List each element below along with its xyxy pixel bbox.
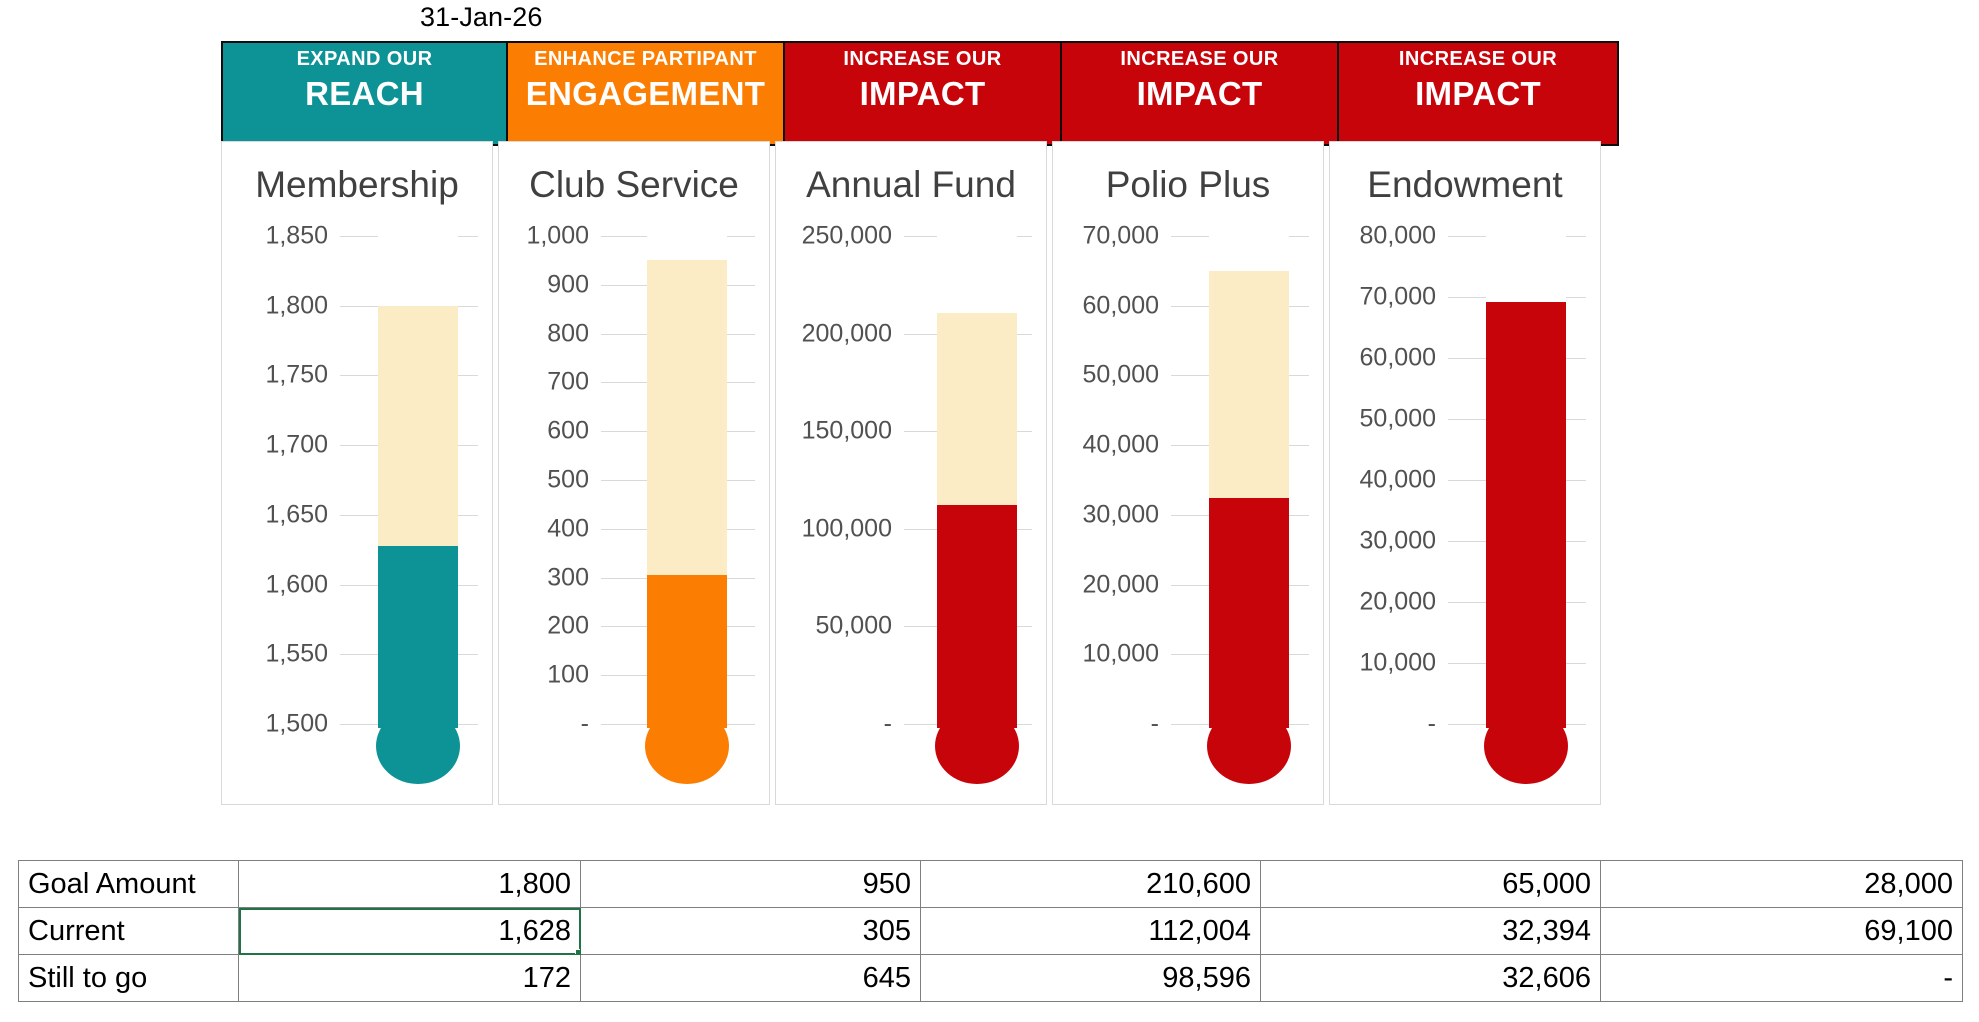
gridline-right [1289, 724, 1309, 725]
gridline-left [1448, 236, 1486, 237]
gridline-left [1171, 724, 1209, 725]
axis-tick-label: 1,800 [265, 291, 328, 320]
table-cell[interactable]: 645 [581, 955, 921, 1002]
banner-row: EXPAND OURREACHENHANCE PARTIPANTENGAGEME… [221, 41, 1958, 146]
gridline-right [1566, 663, 1586, 664]
row-label[interactable]: Current [19, 908, 239, 955]
gridline-left [601, 285, 647, 286]
axis-tick-label: 1,750 [265, 361, 328, 390]
chart-panel-2[interactable]: Club Service1,00090080070060050040030020… [498, 141, 770, 805]
plot-area: 1,8501,8001,7501,7001,6501,6001,5501,500 [222, 218, 492, 768]
gridline-left [601, 578, 647, 579]
banner-title: ENGAGEMENT [526, 75, 766, 113]
thermometer-bulb [935, 708, 1019, 784]
axis-tick-label: 700 [547, 368, 589, 397]
gridline-left [340, 585, 378, 586]
banner-3: INCREASE OURIMPACT [783, 41, 1060, 146]
table-cell[interactable]: 950 [581, 861, 921, 908]
gridline-right [727, 382, 755, 383]
gridline-left [1448, 541, 1486, 542]
gridline-right [1566, 541, 1586, 542]
gridline-right [1289, 515, 1309, 516]
gridline-left [601, 529, 647, 530]
axis-tick-label: - [581, 710, 589, 739]
gridline-right [458, 515, 478, 516]
axis-tick-label: 1,600 [265, 570, 328, 599]
banner-title: REACH [305, 75, 424, 113]
gridline-left [340, 445, 378, 446]
chart-panel-row: Membership1,8501,8001,7501,7001,6501,600… [221, 141, 1958, 844]
axis-tick-label: 1,500 [265, 710, 328, 739]
gridline-right [727, 334, 755, 335]
axis-tick-label: 1,700 [265, 431, 328, 460]
axis-tick-label: 10,000 [1083, 640, 1159, 669]
table-cell[interactable]: 32,606 [1261, 955, 1601, 1002]
gridline-left [340, 654, 378, 655]
summary-table-body: Goal Amount1,800950210,60065,00028,000Cu… [19, 861, 1963, 1002]
axis-tick-label: 60,000 [1360, 344, 1436, 373]
gridline-left [1448, 480, 1486, 481]
report-date: 31-Jan-26 [420, 2, 542, 33]
gridline-left [1171, 306, 1209, 307]
axis-tick-label: 70,000 [1083, 222, 1159, 251]
banner-5: INCREASE OURIMPACT [1337, 41, 1619, 146]
gridline-right [1017, 724, 1032, 725]
banner-4: INCREASE OURIMPACT [1060, 41, 1337, 146]
axis-tick-label: 1,000 [526, 222, 589, 251]
summary-table: Goal Amount1,800950210,60065,00028,000Cu… [18, 860, 1963, 1002]
gridline-right [727, 626, 755, 627]
gridline-right [1017, 236, 1032, 237]
thermometer-fill [1209, 498, 1289, 728]
axis-tick-label: 40,000 [1360, 466, 1436, 495]
chart-title: Polio Plus [1053, 164, 1323, 206]
row-label[interactable]: Still to go [19, 955, 239, 1002]
gridline-right [1289, 236, 1309, 237]
gridline-left [340, 375, 378, 376]
gridline-left [1171, 654, 1209, 655]
plot-area: 1,000900800700600500400300200100- [499, 218, 769, 768]
plot-area: 250,000200,000150,000100,00050,000- [776, 218, 1046, 768]
banner-title: IMPACT [1137, 75, 1263, 113]
table-row: Goal Amount1,800950210,60065,00028,000 [19, 861, 1963, 908]
gridline-right [1289, 654, 1309, 655]
plot-area: 80,00070,00060,00050,00040,00030,00020,0… [1330, 218, 1600, 768]
chart-title: Annual Fund [776, 164, 1046, 206]
thermometer [1207, 218, 1291, 770]
gridline-right [727, 529, 755, 530]
banner-1: EXPAND OURREACH [221, 41, 506, 146]
table-cell[interactable]: 210,600 [921, 861, 1261, 908]
chart-panel-3[interactable]: Annual Fund250,000200,000150,000100,0005… [775, 141, 1047, 805]
gridline-right [1289, 306, 1309, 307]
axis-tick-label: 1,850 [265, 222, 328, 251]
gridline-right [727, 285, 755, 286]
gridline-left [601, 431, 647, 432]
gridline-left [904, 334, 937, 335]
gridline-right [1566, 602, 1586, 603]
gridline-right [1289, 375, 1309, 376]
axis-tick-label: 200,000 [802, 319, 892, 348]
thermometer-fill [378, 546, 458, 728]
axis-tick-label: 800 [547, 319, 589, 348]
gridline-left [904, 626, 937, 627]
gridline-left [340, 515, 378, 516]
gridline-left [601, 382, 647, 383]
banner-title: IMPACT [1415, 75, 1541, 113]
thermometer-fill [937, 505, 1017, 728]
gridline-left [601, 236, 647, 237]
gridline-right [458, 236, 478, 237]
gridline-right [1017, 334, 1032, 335]
banner-subtitle: EXPAND OUR [297, 49, 433, 70]
table-cell[interactable]: 28,000 [1601, 861, 1963, 908]
axis-tick-label: 30,000 [1360, 527, 1436, 556]
chart-title: Endowment [1330, 164, 1600, 206]
table-cell[interactable]: 32,394 [1261, 908, 1601, 955]
thermometer-bulb [376, 708, 460, 784]
gridline-left [340, 236, 378, 237]
axis-tick-label: - [1428, 710, 1436, 739]
axis-tick-label: 1,550 [265, 640, 328, 669]
plot-area: 70,00060,00050,00040,00030,00020,00010,0… [1053, 218, 1323, 768]
gridline-left [904, 529, 937, 530]
axis-tick-label: 60,000 [1083, 291, 1159, 320]
table-row: Still to go17264598,59632,606- [19, 955, 1963, 1002]
axis-tick-label: 50,000 [1360, 405, 1436, 434]
axis-tick-label: 150,000 [802, 417, 892, 446]
axis-tick-label: 80,000 [1360, 222, 1436, 251]
row-label[interactable]: Goal Amount [19, 861, 239, 908]
chart-panel-5[interactable]: Endowment80,00070,00060,00050,00040,0003… [1329, 141, 1601, 805]
axis-tick-label: 300 [547, 563, 589, 592]
axis-tick-label: - [884, 710, 892, 739]
gridline-left [1171, 515, 1209, 516]
axis-tick-label: 50,000 [1083, 361, 1159, 390]
table-cell[interactable]: 69,100 [1601, 908, 1963, 955]
gridline-right [1017, 529, 1032, 530]
banner-subtitle: INCREASE OUR [843, 49, 1001, 70]
thermometer-bulb [1484, 708, 1568, 784]
banner-subtitle: ENHANCE PARTIPANT [534, 49, 757, 70]
gridline-right [1289, 445, 1309, 446]
table-cell[interactable]: 65,000 [1261, 861, 1601, 908]
gridline-left [1448, 297, 1486, 298]
gridline-left [904, 431, 937, 432]
gridline-right [1289, 585, 1309, 586]
axis-tick-label: 10,000 [1360, 649, 1436, 678]
axis-tick-label: 100 [547, 661, 589, 690]
table-cell[interactable]: 112,004 [921, 908, 1261, 955]
gridline-left [1171, 375, 1209, 376]
gridline-right [1017, 431, 1032, 432]
gridline-right [1017, 626, 1032, 627]
gridline-right [458, 306, 478, 307]
axis-tick-label: 200 [547, 612, 589, 641]
banner-subtitle: INCREASE OUR [1399, 49, 1557, 70]
chart-title: Club Service [499, 164, 769, 206]
axis-tick-label: 500 [547, 466, 589, 495]
gridline-left [601, 675, 647, 676]
chart-title: Membership [222, 164, 492, 206]
axis-tick-label: 250,000 [802, 222, 892, 251]
table-cell[interactable]: 1,628 [239, 908, 581, 955]
gridline-right [458, 375, 478, 376]
table-cell[interactable]: 172 [239, 955, 581, 1002]
axis-tick-label: 100,000 [802, 514, 892, 543]
gridline-right [1566, 297, 1586, 298]
gridline-left [1448, 419, 1486, 420]
table-row: Current1,628305112,00432,39469,100 [19, 908, 1963, 955]
gridline-left [1171, 585, 1209, 586]
axis-tick-label: 600 [547, 417, 589, 446]
table-cell[interactable]: 305 [581, 908, 921, 955]
thermometer-bulb [645, 708, 729, 784]
axis-tick-label: 40,000 [1083, 431, 1159, 460]
gridline-left [601, 334, 647, 335]
axis-tick-label: 1,650 [265, 500, 328, 529]
gridline-left [1171, 445, 1209, 446]
axis-tick-label: 900 [547, 270, 589, 299]
gridline-left [904, 724, 937, 725]
gridline-left [1448, 602, 1486, 603]
thermometer [1484, 218, 1568, 770]
gridline-left [1448, 663, 1486, 664]
gridline-right [727, 675, 755, 676]
gridline-right [1566, 480, 1586, 481]
gridline-right [458, 654, 478, 655]
gridline-right [458, 585, 478, 586]
thermometer-fill [647, 575, 727, 728]
gridline-right [1566, 724, 1586, 725]
gridline-right [1566, 419, 1586, 420]
axis-tick-label: 20,000 [1083, 570, 1159, 599]
gridline-right [1566, 358, 1586, 359]
axis-tick-label: 70,000 [1360, 283, 1436, 312]
axis-tick-label: 20,000 [1360, 588, 1436, 617]
gridline-left [340, 306, 378, 307]
table-cell[interactable]: - [1601, 955, 1963, 1002]
gridline-right [727, 724, 755, 725]
axis-tick-label: - [1151, 710, 1159, 739]
gridline-right [727, 431, 755, 432]
gridline-right [727, 236, 755, 237]
axis-tick-label: 50,000 [816, 612, 892, 641]
thermometer [376, 218, 460, 770]
gridline-left [904, 236, 937, 237]
gridline-left [1171, 236, 1209, 237]
banner-subtitle: INCREASE OUR [1120, 49, 1278, 70]
banner-title: IMPACT [860, 75, 986, 113]
gridline-right [727, 578, 755, 579]
axis-tick-label: 400 [547, 514, 589, 543]
gridline-right [458, 724, 478, 725]
banner-2: ENHANCE PARTIPANTENGAGEMENT [506, 41, 783, 146]
table-cell[interactable]: 1,800 [239, 861, 581, 908]
gridline-left [1448, 358, 1486, 359]
gridline-left [340, 724, 378, 725]
gridline-right [458, 445, 478, 446]
gridline-left [601, 724, 647, 725]
chart-panel-1[interactable]: Membership1,8501,8001,7501,7001,6501,600… [221, 141, 493, 805]
thermometer-bulb [1207, 708, 1291, 784]
table-cell[interactable]: 98,596 [921, 955, 1261, 1002]
gridline-left [1448, 724, 1486, 725]
chart-panel-4[interactable]: Polio Plus70,00060,00050,00040,00030,000… [1052, 141, 1324, 805]
gridline-right [1566, 236, 1586, 237]
gridline-right [727, 480, 755, 481]
gridline-left [601, 480, 647, 481]
thermometer [645, 218, 729, 770]
thermometer [935, 218, 1019, 770]
axis-tick-label: 30,000 [1083, 500, 1159, 529]
gridline-left [601, 626, 647, 627]
thermometer-fill [1486, 302, 1566, 728]
